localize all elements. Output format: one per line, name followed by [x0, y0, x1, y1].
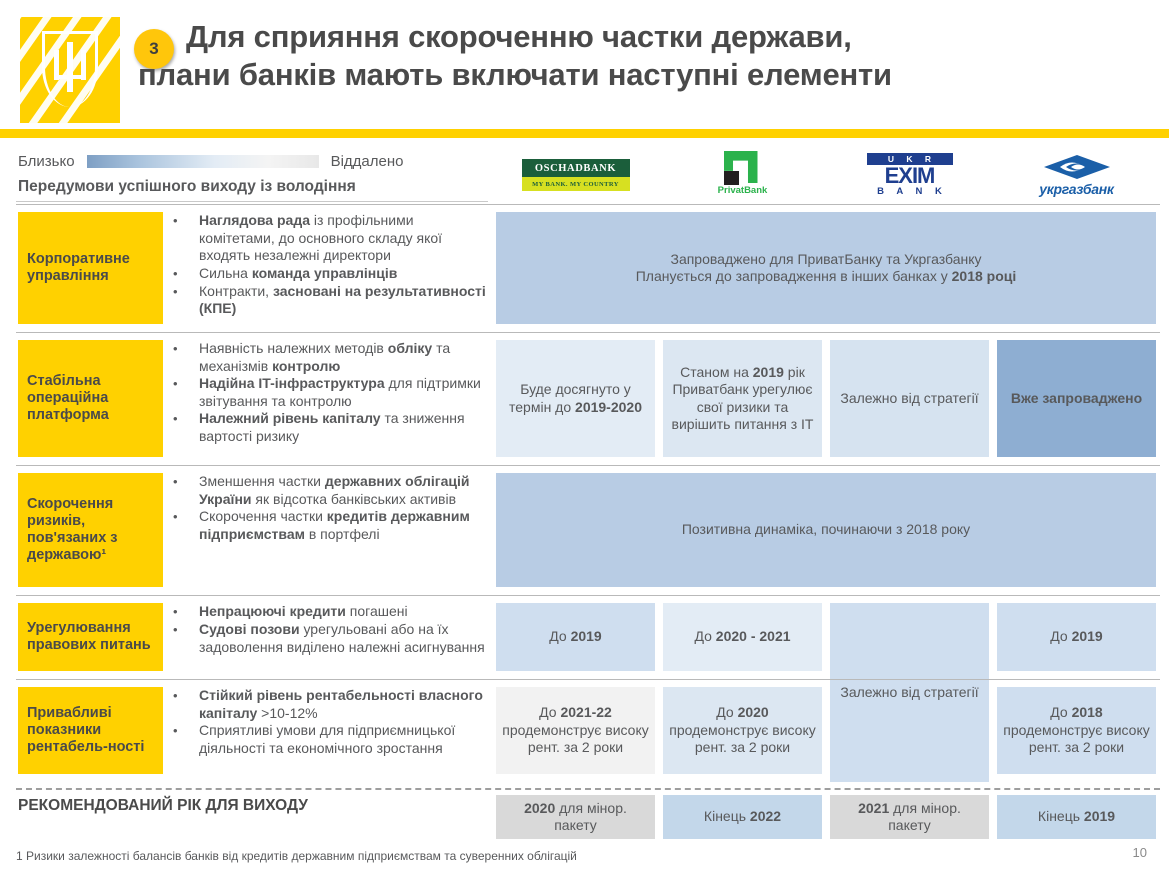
status-cell-text: До 2018 продемонструє високу рент. за 2 …: [1003, 704, 1150, 757]
exim-bank: B A N K: [867, 186, 953, 197]
row-bullet-list: •Наявність належних методів обліку та ме…: [173, 340, 493, 445]
ukrgasbank-wave-icon: [1040, 154, 1114, 180]
cell-emphasis: обліку: [388, 340, 432, 356]
cell-emphasis: Вже запроваджено: [1011, 390, 1142, 406]
status-cell-text: Станом на 2019 рік Приватбанк урегулює с…: [669, 364, 816, 434]
cell-text: Кінець: [1038, 808, 1084, 824]
bullet-text: Контракти, засновані на результативності…: [199, 283, 493, 318]
cell-emphasis: 2018: [1072, 704, 1103, 720]
cell-text: Сприятливі умови для підприємницької дія…: [199, 722, 455, 756]
cell-emphasis: Надійна IT-інфраструктура: [199, 375, 385, 391]
cell-text: >10-12%: [257, 705, 317, 721]
row-bullet-list: •Зменшення частки державних облігацій Ук…: [173, 473, 493, 543]
exim-exim: EXIM: [867, 165, 953, 186]
cell-emphasis: Судові позови: [199, 621, 300, 637]
section-subheading: Передумови успішного виходу із володіння: [18, 178, 356, 196]
page-title-line1: Для сприяння скороченню частки держави,: [186, 19, 852, 54]
legend-gradient-bar: [87, 155, 319, 168]
bullet-dot-icon: •: [173, 265, 199, 283]
cell-text: Зменшення частки: [199, 473, 325, 489]
cell-emphasis: Стійкий рівень рентабельності власного к…: [199, 687, 483, 721]
cell-emphasis: 2020: [524, 800, 555, 816]
status-cell-text: Позитивна динаміка, починаючи з 2018 рок…: [682, 521, 970, 539]
bullet-item: •Наглядова рада із профільними комітетам…: [173, 212, 493, 265]
cell-text: продемонструє високу рент. за 2 роки: [502, 722, 649, 756]
bullet-text: Сильна команда управлінців: [199, 265, 397, 283]
bullet-text: Сприятливі умови для підприємницької дія…: [199, 722, 493, 757]
bullet-dot-icon: •: [173, 375, 199, 410]
slide-header: 3 Для сприяння скороченню частки держави…: [0, 0, 1169, 128]
row-category-label: Привабливі показники рентабель-ності: [18, 687, 163, 774]
bullet-dot-icon: •: [173, 410, 199, 445]
cell-text: продемонструє високу рент. за 2 роки: [1003, 722, 1150, 756]
oschadbank-tagline: MY BANK. MY COUNTRY: [522, 177, 630, 191]
row-category-label: Скорочення ризиків, пов'язаних з державо…: [18, 473, 163, 587]
row-bullet-list: •Наглядова рада із профільними комітетам…: [173, 212, 493, 318]
bullet-item: •Судові позови урегульовані або на їх за…: [173, 621, 493, 656]
cell-text: До: [549, 628, 570, 644]
cell-emphasis: 2019: [1084, 808, 1115, 824]
row-status-cells: Буде досягнуто у термін до 2019-2020Стан…: [492, 332, 1160, 465]
recommendation-cell-text: 2020 для мінор. пакету: [502, 800, 649, 835]
matrix-row: Корпоративне управління•Наглядова рада і…: [0, 204, 1169, 332]
recommendation-cells: 2020 для мінор. пакетуКінець 20222021 дл…: [492, 795, 1160, 839]
cell-text: Контракти,: [199, 283, 273, 299]
ukreximbank-logo-icon: U K R EXIM B A N K: [867, 153, 953, 197]
cell-text: До: [716, 704, 737, 720]
recommendation-separator: [16, 788, 1160, 790]
ukraine-trident-emblem-icon: [20, 17, 120, 123]
status-cell-text: Буде досягнуто у термін до 2019-2020: [502, 381, 649, 416]
recommendation-cell-text: 2021 для мінор. пакету: [836, 800, 983, 835]
bullet-dot-icon: •: [173, 340, 199, 375]
ukrgasbank-logo-icon: укргазбанк: [1017, 154, 1137, 197]
status-cell: До 2020 продемонструє високу рент. за 2 …: [663, 687, 822, 774]
bullet-text: Стійкий рівень рентабельності власного к…: [199, 687, 493, 722]
cell-emphasis: 2021: [858, 800, 889, 816]
bullet-item: •Сильна команда управлінців: [173, 265, 493, 283]
recommendation-label: РЕКОМЕНДОВАНИЙ РІК ДЛЯ ВИХОДУ: [18, 797, 308, 815]
cell-emphasis: контролю: [272, 358, 340, 374]
cell-text: Станом на: [680, 364, 753, 380]
cell-text: погашені: [346, 603, 408, 619]
row-status-cells: Запроваджено для ПриватБанку та Укргазба…: [492, 204, 1160, 332]
cell-text: До: [539, 704, 560, 720]
cell-emphasis: 2019: [1072, 628, 1103, 644]
bullet-text: Належний рівень капіталу та зниження вар…: [199, 410, 493, 445]
cell-text: Сильна: [199, 265, 252, 281]
status-cell-text: До 2020 - 2021: [694, 628, 790, 646]
bullet-dot-icon: •: [173, 722, 199, 757]
cell-text: Скорочення частки: [199, 508, 327, 524]
status-cell: Залежно від стратегії: [830, 340, 989, 457]
cell-text: Позитивна динаміка, починаючи з 2018 рок…: [682, 521, 970, 537]
status-cell: Станом на 2019 рік Приватбанк урегулює с…: [663, 340, 822, 457]
cell-emphasis: 2018 році: [952, 268, 1017, 284]
cell-text: До: [1050, 704, 1071, 720]
cell-text: в портфелі: [305, 526, 380, 542]
bullet-text: Непрацюючі кредити погашені: [199, 603, 408, 621]
bullet-dot-icon: •: [173, 508, 199, 543]
status-cell-text: До 2019: [549, 628, 601, 646]
bullet-item: •Стійкий рівень рентабельності власного …: [173, 687, 493, 722]
cell-emphasis: 2022: [750, 808, 781, 824]
status-cell: Буде досягнуто у термін до 2019-2020: [496, 340, 655, 457]
bullet-item: •Непрацюючі кредити погашені: [173, 603, 493, 621]
cell-text: Планується до запровадження в інших банк…: [636, 268, 952, 284]
matrix-row: Урегулювання правових питань•Непрацюючі …: [0, 595, 1169, 679]
row-bullet-list: •Стійкий рівень рентабельності власного …: [173, 687, 493, 757]
cell-text: як відсотка банківських активів: [252, 491, 457, 507]
matrix-row: Стабільна операційна платформа•Наявність…: [0, 332, 1169, 465]
cell-text: Залежно від стратегії: [840, 390, 978, 406]
cell-emphasis: команда управлінців: [252, 265, 398, 281]
cell-emphasis: 2021-22: [560, 704, 611, 720]
cell-text: для мінор. пакету: [554, 800, 627, 834]
row-category-label: Стабільна операційна платформа: [18, 340, 163, 457]
recommendation-cell: Кінець 2019: [997, 795, 1156, 839]
privatbank-name: PrivatBank: [708, 185, 778, 196]
cell-emphasis: 2019: [753, 364, 784, 380]
distance-legend: Близько Віддалено: [18, 150, 403, 172]
bullet-dot-icon: •: [173, 603, 199, 621]
bullet-item: •Зменшення частки державних облігацій Ук…: [173, 473, 493, 508]
cell-text: Кінець: [704, 808, 750, 824]
row-status-cells: До 2019До 2020 - 2021Залежно від стратег…: [492, 595, 1160, 679]
row-category-label: Корпоративне управління: [18, 212, 163, 324]
bullet-item: •Контракти, засновані на результативност…: [173, 283, 493, 318]
cell-text: До: [1050, 628, 1071, 644]
privatbank-logo-icon: PrivatBank: [708, 151, 778, 199]
bullet-text: Зменшення частки державних облігацій Укр…: [199, 473, 493, 508]
legend-far-label: Віддалено: [331, 153, 404, 170]
bullet-text: Надійна IT-інфраструктура для підтримки …: [199, 375, 493, 410]
bullet-dot-icon: •: [173, 687, 199, 722]
cell-emphasis: Непрацюючі кредити: [199, 603, 346, 619]
cell-emphasis: 2019: [571, 628, 602, 644]
status-cell-text: Залежно від стратегії: [840, 390, 978, 408]
cell-text: Наявність належних методів: [199, 340, 388, 356]
row-status-cells: До 2021-22 продемонструє високу рент. за…: [492, 679, 1160, 782]
status-cell-text: Запроваджено для ПриватБанку та Укргазба…: [636, 251, 1017, 286]
legend-near-label: Близько: [18, 153, 75, 170]
bank-logo-ukreximbank: U K R EXIM B A N K: [826, 148, 993, 202]
bank-logo-oschadbank: OSCHADBANK MY BANK. MY COUNTRY: [492, 148, 659, 202]
row-status-cells: Позитивна динаміка, починаючи з 2018 рок…: [492, 465, 1160, 595]
status-cell: До 2019: [496, 603, 655, 671]
bank-logo-privatbank: PrivatBank: [659, 148, 826, 202]
cell-emphasis: Наглядова рада: [199, 212, 310, 228]
bullet-item: •Сприятливі умови для підприємницької ді…: [173, 722, 493, 757]
status-cell-text: Вже запроваджено: [1011, 390, 1142, 408]
bullet-dot-icon: •: [173, 212, 199, 265]
page-number: 10: [1133, 845, 1147, 860]
trident-bar: [54, 75, 86, 79]
status-cell-text: До 2020 продемонструє високу рент. за 2 …: [669, 704, 816, 757]
privatbank-square: [724, 171, 739, 185]
bullet-item: •Скорочення частки кредитів державним пі…: [173, 508, 493, 543]
matrix-row: Привабливі показники рентабель-ності•Сті…: [0, 679, 1169, 782]
cell-emphasis: Належний рівень капіталу: [199, 410, 381, 426]
cell-emphasis: 2020: [738, 704, 769, 720]
cell-emphasis: 2019-2020: [575, 399, 642, 415]
bank-logo-row: OSCHADBANK MY BANK. MY COUNTRY PrivatBan…: [492, 148, 1160, 202]
row-bullet-list: •Непрацюючі кредити погашені•Судові позо…: [173, 603, 493, 656]
row-category-label: Урегулювання правових питань: [18, 603, 163, 671]
bullet-text: Наглядова рада із профільними комітетами…: [199, 212, 493, 265]
bullet-text: Наявність належних методів обліку та мех…: [199, 340, 493, 375]
bullet-dot-icon: •: [173, 621, 199, 656]
cell-text: Запроваджено для ПриватБанку та Укргазба…: [670, 251, 981, 267]
recommendation-cell: 2021 для мінор. пакету: [830, 795, 989, 839]
matrix-row: Скорочення ризиків, пов'язаних з державо…: [0, 465, 1169, 595]
recommendation-cell: Кінець 2022: [663, 795, 822, 839]
bullet-item: •Належний рівень капіталу та зниження ва…: [173, 410, 493, 445]
status-cell: До 2021-22 продемонструє високу рент. за…: [496, 687, 655, 774]
status-cell: До 2018 продемонструє високу рент. за 2 …: [997, 687, 1156, 774]
recommendation-cell-text: Кінець 2019: [1038, 808, 1115, 826]
page-title: Для сприяння скороченню частки держави, …: [186, 18, 1154, 56]
cell-text: для мінор. пакету: [888, 800, 961, 834]
oschadbank-name: OSCHADBANK: [522, 159, 630, 177]
status-cell: До 2020 - 2021: [663, 603, 822, 671]
bullet-item: •Наявність належних методів обліку та ме…: [173, 340, 493, 375]
bullet-dot-icon: •: [173, 473, 199, 508]
cell-text: До: [694, 628, 715, 644]
cell-text: продемонструє високу рент. за 2 роки: [669, 722, 816, 756]
recommendation-cell-text: Кінець 2022: [704, 808, 781, 826]
status-cell: Позитивна динаміка, починаючи з 2018 рок…: [496, 473, 1156, 587]
subheading-rule: [16, 201, 488, 202]
header-divider: [0, 129, 1169, 138]
bank-logo-ukrgasbank: укргазбанк: [993, 148, 1160, 202]
status-cell: Вже запроваджено: [997, 340, 1156, 457]
page-title-line2: плани банків мають включати наступні еле…: [138, 56, 1154, 94]
bullet-text: Скорочення частки кредитів державним під…: [199, 508, 493, 543]
footnote: 1 Ризики залежності балансів банків від …: [16, 849, 577, 863]
bullet-text: Судові позови урегульовані або на їх зад…: [199, 621, 493, 656]
trident-center: [67, 42, 73, 92]
bullet-item: •Надійна IT-інфраструктура для підтримки…: [173, 375, 493, 410]
oschadbank-logo-icon: OSCHADBANK MY BANK. MY COUNTRY: [522, 159, 630, 191]
status-cell-text: До 2019: [1050, 628, 1102, 646]
status-cell-text: До 2021-22 продемонструє високу рент. за…: [502, 704, 649, 757]
ukrgasbank-name: укргазбанк: [1017, 181, 1137, 197]
status-cell: Запроваджено для ПриватБанку та Укргазба…: [496, 212, 1156, 324]
bullet-dot-icon: •: [173, 283, 199, 318]
status-cell: До 2019: [997, 603, 1156, 671]
recommendation-cell: 2020 для мінор. пакету: [496, 795, 655, 839]
cell-emphasis: 2020 - 2021: [716, 628, 791, 644]
